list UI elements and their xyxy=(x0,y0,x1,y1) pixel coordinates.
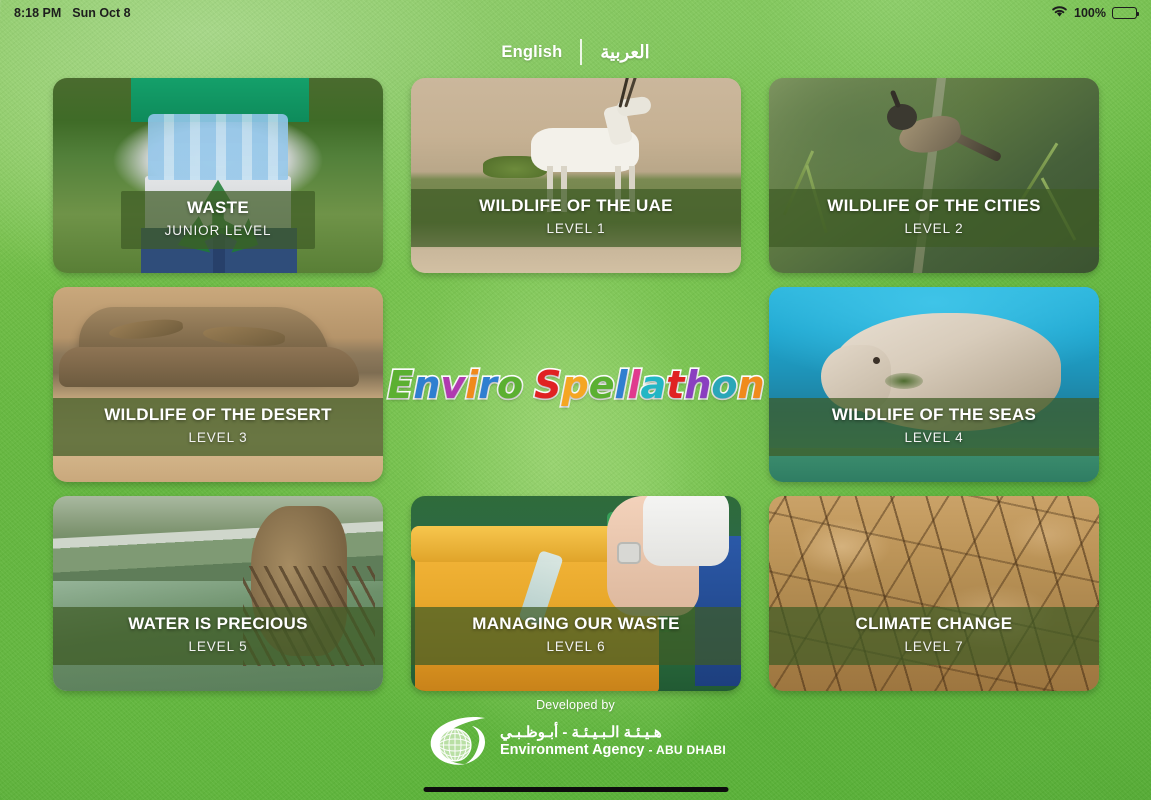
battery-percent-label: 100% xyxy=(1074,6,1106,20)
wifi-icon xyxy=(1051,5,1068,21)
status-bar-left: 8:18 PM Sun Oct 8 xyxy=(14,6,131,20)
level-card-waste-junior[interactable]: WASTE JUNIOR LEVEL xyxy=(53,78,383,273)
card-subtitle: LEVEL 5 xyxy=(188,639,247,654)
card-subtitle: JUNIOR LEVEL xyxy=(165,223,272,238)
logo-letter: n xyxy=(738,366,765,404)
grid-cell-6: WILDLIFE OF THE SEAS LEVEL 4 xyxy=(769,287,1099,482)
ead-name-english-main: Environment Agency xyxy=(500,742,645,758)
level-card-grid: WASTE JUNIOR LEVEL WILDLIFE OF THE UAE L… xyxy=(53,78,1099,691)
card-subtitle: LEVEL 3 xyxy=(188,430,247,445)
app-logo-text: EnviroSpellathon xyxy=(387,366,764,404)
level-card-wildlife-desert[interactable]: WILDLIFE OF THE DESERT LEVEL 3 xyxy=(53,287,383,482)
grid-cell-logo: EnviroSpellathon xyxy=(411,287,741,482)
card-title: WATER IS PRECIOUS xyxy=(128,615,308,634)
status-date: Sun Oct 8 xyxy=(72,6,130,20)
status-bar: 8:18 PM Sun Oct 8 100% xyxy=(0,0,1151,26)
card-title: WILDLIFE OF THE DESERT xyxy=(104,406,332,425)
home-indicator[interactable] xyxy=(423,787,728,792)
card-label-band: WASTE JUNIOR LEVEL xyxy=(121,191,315,249)
grid-cell-9: CLIMATE CHANGE LEVEL 7 xyxy=(769,496,1099,691)
card-subtitle: LEVEL 4 xyxy=(904,430,963,445)
ead-name-english: Environment Agency - ABU DHABI xyxy=(500,743,726,759)
card-label-band: MANAGING OUR WASTE LEVEL 6 xyxy=(411,607,741,665)
logo-letter: o xyxy=(711,366,737,404)
level-card-wildlife-uae[interactable]: WILDLIFE OF THE UAE LEVEL 1 xyxy=(411,78,741,273)
card-subtitle: LEVEL 7 xyxy=(904,639,963,654)
logo-letter: S xyxy=(534,366,561,404)
status-bar-right: 100% xyxy=(1051,5,1137,21)
environment-agency-abu-dhabi-logo: هـيـئـة الـبـيـئـة - أبـوظـبـي Environme… xyxy=(425,714,726,770)
logo-letter: l xyxy=(614,366,627,404)
logo-letter: a xyxy=(641,366,667,404)
level-card-climate-change[interactable]: CLIMATE CHANGE LEVEL 7 xyxy=(769,496,1099,691)
grid-cell-1: WASTE JUNIOR LEVEL xyxy=(53,78,383,273)
level-card-wildlife-seas[interactable]: WILDLIFE OF THE SEAS LEVEL 4 xyxy=(769,287,1099,482)
card-subtitle: LEVEL 1 xyxy=(546,221,605,236)
logo-letter: l xyxy=(628,366,641,404)
ead-name-english-suffix: - ABU DHABI xyxy=(649,743,727,757)
grid-cell-8: MANAGING OUR WASTE LEVEL 6 xyxy=(411,496,741,691)
language-arabic-button[interactable]: العربية xyxy=(582,38,667,66)
battery-full-icon xyxy=(1112,7,1137,19)
card-label-band: CLIMATE CHANGE LEVEL 7 xyxy=(769,607,1099,665)
app-logo: EnviroSpellathon xyxy=(387,366,764,404)
card-title: WILDLIFE OF THE CITIES xyxy=(827,197,1040,216)
footer: Developed by هـيـئـة الـبـيـئـة - أبـوظـ… xyxy=(0,698,1151,770)
card-label-band: WILDLIFE OF THE DESERT LEVEL 3 xyxy=(53,398,383,456)
logo-letter: t xyxy=(666,366,684,404)
card-label-band: WILDLIFE OF THE CITIES LEVEL 2 xyxy=(769,189,1099,247)
logo-letter: E xyxy=(387,366,413,404)
grid-cell-2: WILDLIFE OF THE UAE LEVEL 1 xyxy=(411,78,741,273)
ead-name-arabic: هـيـئـة الـبـيـئـة - أبـوظـبـي xyxy=(500,725,662,742)
card-title: CLIMATE CHANGE xyxy=(856,615,1013,634)
grid-cell-3: WILDLIFE OF THE CITIES LEVEL 2 xyxy=(769,78,1099,273)
logo-letter: h xyxy=(684,366,711,404)
logo-letter: e xyxy=(589,366,615,404)
ead-wordmark: هـيـئـة الـبـيـئـة - أبـوظـبـي Environme… xyxy=(500,725,726,758)
card-title: WILDLIFE OF THE SEAS xyxy=(832,406,1036,425)
grid-cell-4: WILDLIFE OF THE DESERT LEVEL 3 xyxy=(53,287,383,482)
card-title: MANAGING OUR WASTE xyxy=(472,615,680,634)
logo-letter: o xyxy=(497,366,523,404)
ead-globe-swoosh-icon xyxy=(425,714,491,770)
logo-letter: p xyxy=(561,366,588,404)
card-title: WILDLIFE OF THE UAE xyxy=(479,197,673,216)
card-subtitle: LEVEL 2 xyxy=(904,221,963,236)
card-label-band: WILDLIFE OF THE SEAS LEVEL 4 xyxy=(769,398,1099,456)
level-card-wildlife-cities[interactable]: WILDLIFE OF THE CITIES LEVEL 2 xyxy=(769,78,1099,273)
card-label-band: WATER IS PRECIOUS LEVEL 5 xyxy=(53,607,383,665)
card-subtitle: LEVEL 6 xyxy=(546,639,605,654)
language-toggle: English العربية xyxy=(0,38,1151,66)
logo-letter: r xyxy=(478,366,497,404)
card-label-band: WILDLIFE OF THE UAE LEVEL 1 xyxy=(411,189,741,247)
language-english-button[interactable]: English xyxy=(483,38,580,66)
logo-letter: v xyxy=(440,366,465,404)
level-card-water-precious[interactable]: WATER IS PRECIOUS LEVEL 5 xyxy=(53,496,383,691)
level-card-managing-waste[interactable]: MANAGING OUR WASTE LEVEL 6 xyxy=(411,496,741,691)
logo-letter: i xyxy=(465,366,478,404)
logo-letter: n xyxy=(413,366,440,404)
grid-cell-7: WATER IS PRECIOUS LEVEL 5 xyxy=(53,496,383,691)
card-title: WASTE xyxy=(187,199,249,218)
developed-by-label: Developed by xyxy=(536,698,615,712)
status-time: 8:18 PM xyxy=(14,6,61,20)
